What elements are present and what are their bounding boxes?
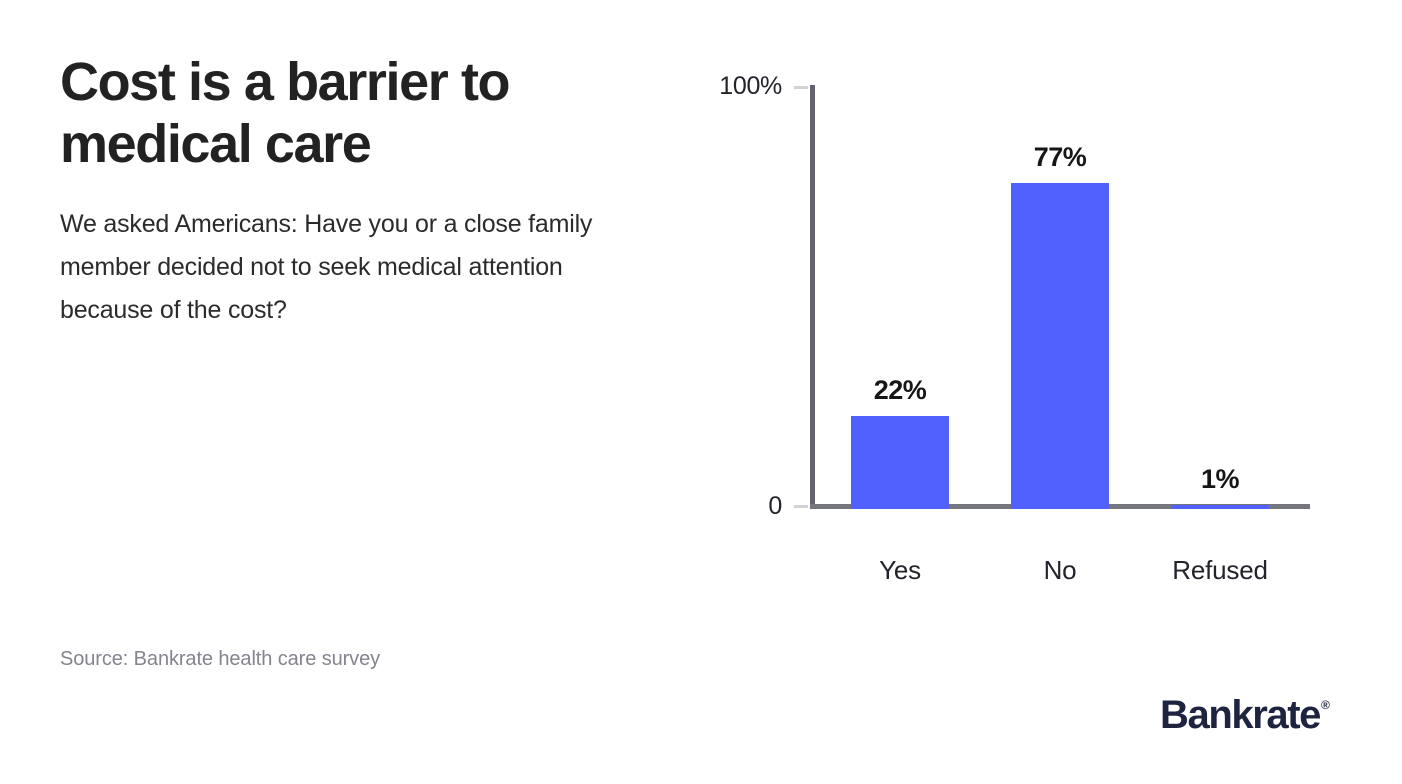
bar-group-refused[interactable]: 1% Refused [1144, 85, 1296, 509]
y-axis-label-max: 100% [719, 72, 782, 101]
bankrate-logo: Bankrate ® [1160, 695, 1328, 735]
bar-group-no[interactable]: 77% No [984, 85, 1136, 509]
bar-value-refused: 1% [1201, 464, 1239, 495]
bars-layer: 22% Yes 77% No 1% Refused [810, 85, 1310, 509]
headline-block: Cost is a barrier to medical care We ask… [60, 52, 660, 332]
bar-value-no: 77% [1034, 142, 1087, 173]
bar-chart: 100% 0 22% Yes 77% No 1% Refused [700, 60, 1360, 600]
chart-subtitle: We asked Americans: Have you or a close … [60, 175, 645, 332]
bar-yes[interactable] [851, 416, 949, 509]
bar-value-yes: 22% [874, 375, 927, 406]
bar-category-refused: Refused [1172, 555, 1267, 586]
bar-category-yes: Yes [879, 555, 921, 586]
y-axis-tick-max [794, 86, 808, 89]
trademark-icon: ® [1320, 695, 1328, 711]
bankrate-logo-wordmark: Bankrate [1160, 695, 1320, 735]
y-axis-label-min: 0 [768, 492, 782, 521]
page-title: Cost is a barrier to medical care [60, 52, 620, 175]
y-axis-tick-min [794, 505, 808, 508]
source-note: Source: Bankrate health care survey [60, 648, 380, 671]
bar-category-no: No [1044, 555, 1077, 586]
bar-refused[interactable] [1171, 505, 1269, 509]
bar-group-yes[interactable]: 22% Yes [824, 85, 976, 509]
bar-no[interactable] [1011, 183, 1109, 509]
